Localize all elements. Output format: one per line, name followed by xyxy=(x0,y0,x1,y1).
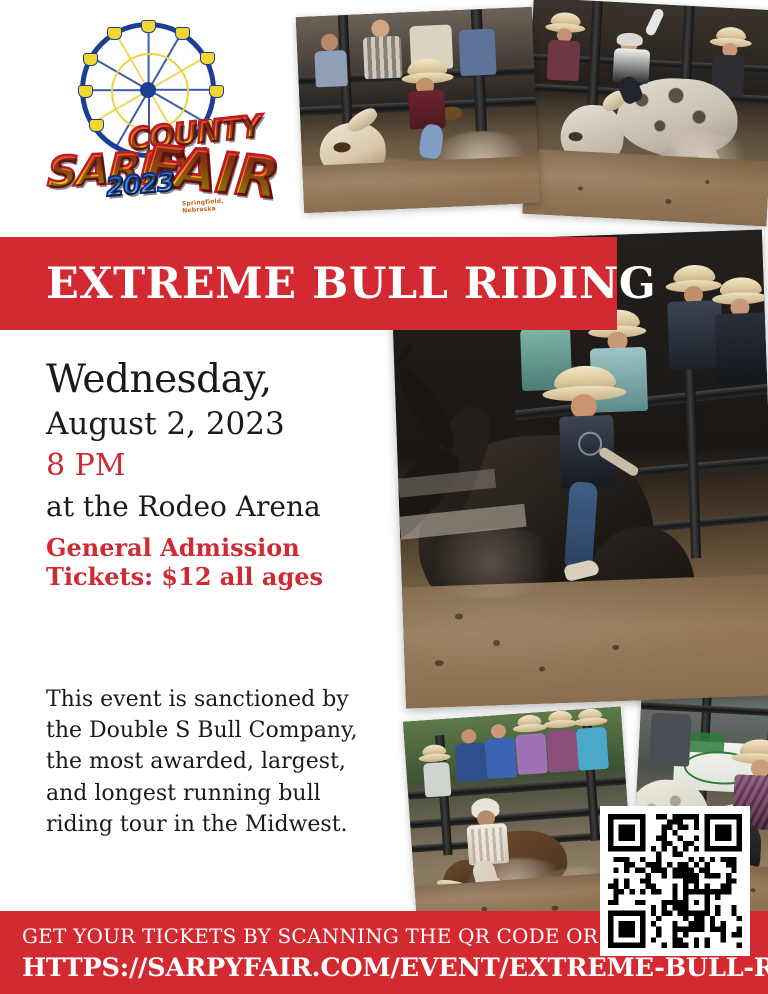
rider-top-right xyxy=(602,6,685,106)
event-venue: at the Rodeo Arena xyxy=(46,492,376,523)
event-date: August 2, 2023 xyxy=(46,407,376,441)
photo-top-left xyxy=(296,7,540,213)
photo-top-left-scene xyxy=(296,7,540,213)
poster-canvas: COUNTY SARPY FAIR 2023 Springfield, Nebr… xyxy=(0,0,768,994)
photo-top-right xyxy=(523,0,768,226)
logo-year: 2023 xyxy=(105,167,176,203)
person-dark-bottom-right xyxy=(647,702,695,778)
sarpy-county-fair-logo: COUNTY SARPY FAIR 2023 Springfield, Nebr… xyxy=(36,22,254,212)
photo-top-right-scene xyxy=(523,0,768,226)
event-time: 8 PM xyxy=(46,449,376,482)
logo-wordmark: COUNTY SARPY FAIR 2023 Springfield, Nebr… xyxy=(36,114,254,210)
title-banner: EXTREME BULL RIDING xyxy=(0,237,617,330)
spectator-4 xyxy=(711,276,768,398)
event-details: Wednesday, August 2, 2023 8 PM at the Ro… xyxy=(46,360,376,591)
footer-url: HTTPS://SARPYFAIR.COM/EVENT/EXTREME-BULL… xyxy=(22,953,768,983)
page-title: EXTREME BULL RIDING xyxy=(46,259,656,309)
event-description: This event is sanctioned by the Double S… xyxy=(46,684,364,840)
footer-call-to-action: GET YOUR TICKETS BY SCANNING THE QR CODE… xyxy=(22,924,669,948)
qr-code[interactable] xyxy=(608,814,742,948)
admission-line-1: General Admission xyxy=(46,533,376,562)
admission-line-2: Tickets: $12 all ages xyxy=(46,562,376,591)
event-day: Wednesday, xyxy=(46,360,376,401)
qr-code-panel[interactable] xyxy=(600,806,750,956)
